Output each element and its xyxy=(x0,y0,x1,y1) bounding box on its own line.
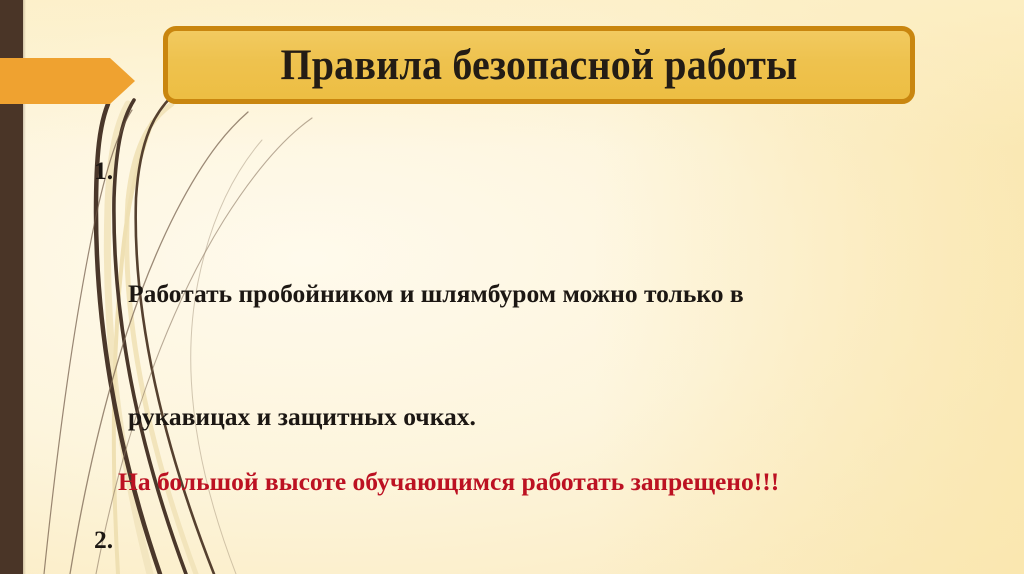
warning-text: На большой высоте обучающимся работать з… xyxy=(118,465,779,499)
page-title: Правила безопасной работы xyxy=(280,44,797,87)
list-item-line: Работать пробойником и шлямбуром можно т… xyxy=(128,273,994,314)
list-item: 2. Пользоваться только исправным инструм… xyxy=(94,519,994,574)
list-item-marker: 2. xyxy=(94,519,113,560)
orange-arrow-shape xyxy=(0,58,140,104)
rules-list: 1. Работать пробойником и шлямбуром можн… xyxy=(94,150,994,574)
rules-list-container: 1. Работать пробойником и шлямбуром можн… xyxy=(94,150,994,574)
list-item: 1. Работать пробойником и шлямбуром можн… xyxy=(94,150,994,519)
title-plate: Правила безопасной работы xyxy=(163,26,915,104)
slide: Правила безопасной работы 1. Работать пр… xyxy=(0,0,1024,574)
orange-arrow-icon xyxy=(0,58,140,104)
list-item-line: рукавицах и защитных очках. xyxy=(128,396,994,437)
list-item-marker: 1. xyxy=(94,150,113,191)
